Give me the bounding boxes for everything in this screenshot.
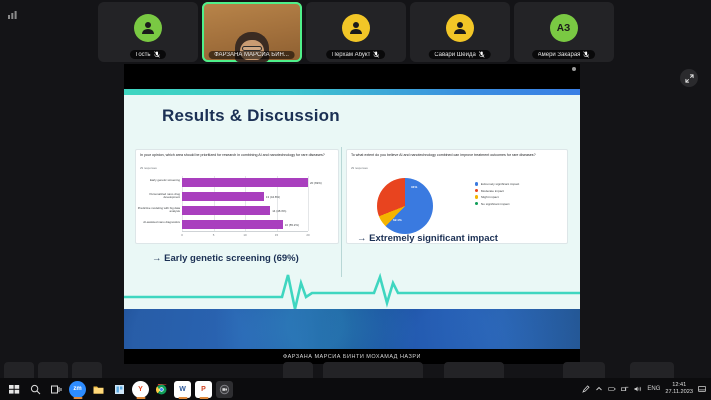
mic-muted-icon	[583, 51, 589, 58]
pie-label-1: 31%	[411, 185, 417, 189]
yandex-browser-icon[interactable]: Y	[132, 381, 149, 398]
legend-item-0: Extremely significant impact	[475, 182, 519, 186]
notifications-icon[interactable]	[698, 385, 706, 393]
thumbnail-2[interactable]	[72, 362, 102, 378]
bar-category-0: Early genetic screening	[136, 179, 180, 182]
thumbnail-0[interactable]	[4, 362, 34, 378]
avatar: АЗ	[550, 14, 578, 42]
pie-label-0: 62.1%	[393, 218, 402, 222]
mic-muted-icon	[373, 51, 379, 58]
participant-namebar: Амери Закарая	[532, 50, 596, 59]
legend-label-2: Slight impact	[481, 195, 499, 199]
x-axis	[182, 231, 308, 232]
participant-filmstrip: Гость ФАРЗАНА МАРСИА БИН... Перхам Абукт	[0, 0, 711, 64]
status-dot	[572, 67, 576, 71]
legend-swatch-red	[475, 189, 478, 192]
mic-muted-icon	[479, 51, 485, 58]
participant-tile-3[interactable]: Савари Шейда	[410, 2, 510, 62]
legend-swatch-blue	[475, 182, 478, 185]
legend-label-3: No significant impact	[481, 202, 510, 206]
x-tick-1: 5	[213, 233, 215, 237]
chart-responses-count: 29 responses	[351, 166, 368, 170]
participant-name: Савари Шейда	[434, 52, 476, 58]
windows-start-icon[interactable]	[6, 381, 23, 398]
legend-swatch-green	[475, 202, 478, 205]
participant-tile-1[interactable]: ФАРЗАНА МАРСИА БИН...	[202, 2, 302, 62]
chart-responses-count: 29 responses	[140, 166, 157, 170]
show-hidden-icons-chevron[interactable]	[595, 385, 603, 393]
participant-namebar: Гость	[129, 50, 165, 59]
clock-time: 12:41	[665, 382, 693, 389]
thumbnail-1[interactable]	[38, 362, 68, 378]
bar-value-0: 20 (69%)	[310, 181, 322, 185]
battery-icon[interactable]	[608, 385, 616, 393]
x-tick-4: 20	[306, 233, 309, 237]
legend-item-1: Moderate impact	[475, 189, 519, 193]
x-tick-2: 10	[243, 233, 246, 237]
participant-name: Перхам Абукт	[332, 52, 371, 58]
thumbnail-5[interactable]	[444, 362, 504, 378]
page-title: Results & Discussion	[162, 106, 340, 126]
word-label: W	[179, 386, 186, 393]
system-tray: ENG 12:41 27.11.2023	[582, 382, 711, 396]
column-divider	[341, 147, 342, 277]
presenter-name: ФАРЗАНА МАРСИА БИНТИ МОХАМАД НАЗРИ	[283, 354, 421, 360]
legend-item-3: No significant impact	[475, 202, 519, 206]
zoom-meeting-icon[interactable]	[216, 381, 233, 398]
clock-date: 27.11.2023	[665, 389, 693, 396]
bar-value-2: 14 (48.3%)	[272, 209, 286, 213]
bar-value-3: 16 (55.2%)	[285, 223, 299, 227]
chart-question: In your opinion, which area should be pr…	[140, 153, 334, 158]
avatar	[446, 14, 474, 42]
bar-2: Predictive modeling with big data analys…	[182, 206, 270, 215]
bar-1: Personalized nano drug development 13 (4…	[182, 192, 264, 201]
windows-taskbar: zm Y W P	[0, 378, 711, 400]
x-tick-0: 0	[181, 233, 183, 237]
shared-screen-viewer[interactable]: Results & Discussion In your opinion, wh…	[124, 64, 580, 364]
word-icon[interactable]: W	[174, 381, 191, 398]
task-view-icon[interactable]	[48, 381, 65, 398]
thumbnail-7[interactable]	[630, 362, 674, 378]
pie-chart-card: To what extent do you believe AI and nan…	[346, 149, 568, 244]
bar-category-2: Predictive modeling with big data analys…	[136, 207, 180, 214]
clock[interactable]: 12:41 27.11.2023	[665, 382, 693, 396]
taskbar-icons: zm Y W P	[0, 381, 233, 398]
bar-value-1: 13 (44.8%)	[266, 195, 280, 199]
file-explorer-icon[interactable]	[90, 381, 107, 398]
search-icon[interactable]	[27, 381, 44, 398]
participant-namebar: ФАРЗАНА МАРСИА БИН...	[208, 51, 295, 59]
zoom-app-label: zm	[73, 386, 81, 392]
zoom-app-icon[interactable]: zm	[69, 381, 86, 398]
participant-name: Амери Закарая	[538, 52, 581, 58]
pen-icon[interactable]	[582, 385, 590, 393]
presentation-slide: Results & Discussion In your opinion, wh…	[124, 89, 580, 361]
powerpoint-label: P	[201, 386, 206, 393]
legend-item-2: Slight impact	[475, 195, 519, 199]
participant-namebar: Савари Шейда	[428, 50, 491, 59]
participant-tile-4[interactable]: АЗ Амери Закарая	[514, 2, 614, 62]
mic-muted-icon	[154, 51, 160, 58]
participant-tile-0[interactable]: Гость	[98, 2, 198, 62]
network-icon[interactable]	[621, 385, 629, 393]
thumbnail-6[interactable]	[563, 362, 605, 378]
legend-label-0: Extremely significant impact	[481, 182, 519, 186]
volume-icon[interactable]	[634, 385, 642, 393]
avatar-initials: АЗ	[557, 23, 571, 34]
language-indicator[interactable]: ENG	[647, 386, 660, 392]
bar-category-1: Personalized nano drug development	[136, 193, 180, 200]
participant-namebar: Перхам Абукт	[326, 50, 386, 59]
pie-plot: 62.1% 31%	[377, 178, 433, 234]
thumbnail-3[interactable]	[283, 362, 313, 378]
yandex-label: Y	[138, 386, 143, 393]
thumbnail-4[interactable]	[323, 362, 423, 378]
screen: Гость ФАРЗАНА МАРСИА БИН... Перхам Абукт	[0, 0, 711, 400]
pie-legend: Extremely significant impact Moderate im…	[475, 182, 519, 208]
chrome-icon[interactable]	[153, 381, 170, 398]
bar-chart-card: In your opinion, which area should be pr…	[135, 149, 339, 244]
store-icon[interactable]	[111, 381, 128, 398]
takeaway-left: → Early genetic screening (69%)	[152, 253, 299, 264]
ecg-line-graphic	[124, 267, 580, 311]
x-tick-3: 15	[275, 233, 278, 237]
chart-question: To what extent do you believe AI and nan…	[351, 153, 563, 158]
bar-3: AI-assisted nano diagnostics 16 (55.2%)	[182, 220, 283, 229]
signal-strength-icon	[8, 6, 18, 15]
expand-fullscreen-icon[interactable]	[680, 69, 698, 87]
window-thumbnail-strip	[0, 362, 711, 378]
pie-graphic	[377, 178, 433, 234]
legend-swatch-yellow	[475, 195, 478, 198]
takeaway-right: → Extremely significant impact	[357, 233, 498, 244]
participant-name: ФАРЗАНА МАРСИА БИН...	[214, 52, 289, 58]
avatar	[134, 14, 162, 42]
participant-tile-2[interactable]: Перхам Абукт	[306, 2, 406, 62]
participant-name: Гость	[135, 52, 150, 58]
slide-accent-bar	[124, 89, 580, 95]
legend-label-1: Moderate impact	[481, 189, 504, 193]
bar-category-3: AI-assisted nano diagnostics	[136, 221, 180, 224]
bar-0: Early genetic screening 20 (69%)	[182, 178, 308, 187]
bar-plot: Early genetic screening 20 (69%) Persona…	[182, 176, 308, 231]
avatar	[342, 14, 370, 42]
powerpoint-icon[interactable]: P	[195, 381, 212, 398]
